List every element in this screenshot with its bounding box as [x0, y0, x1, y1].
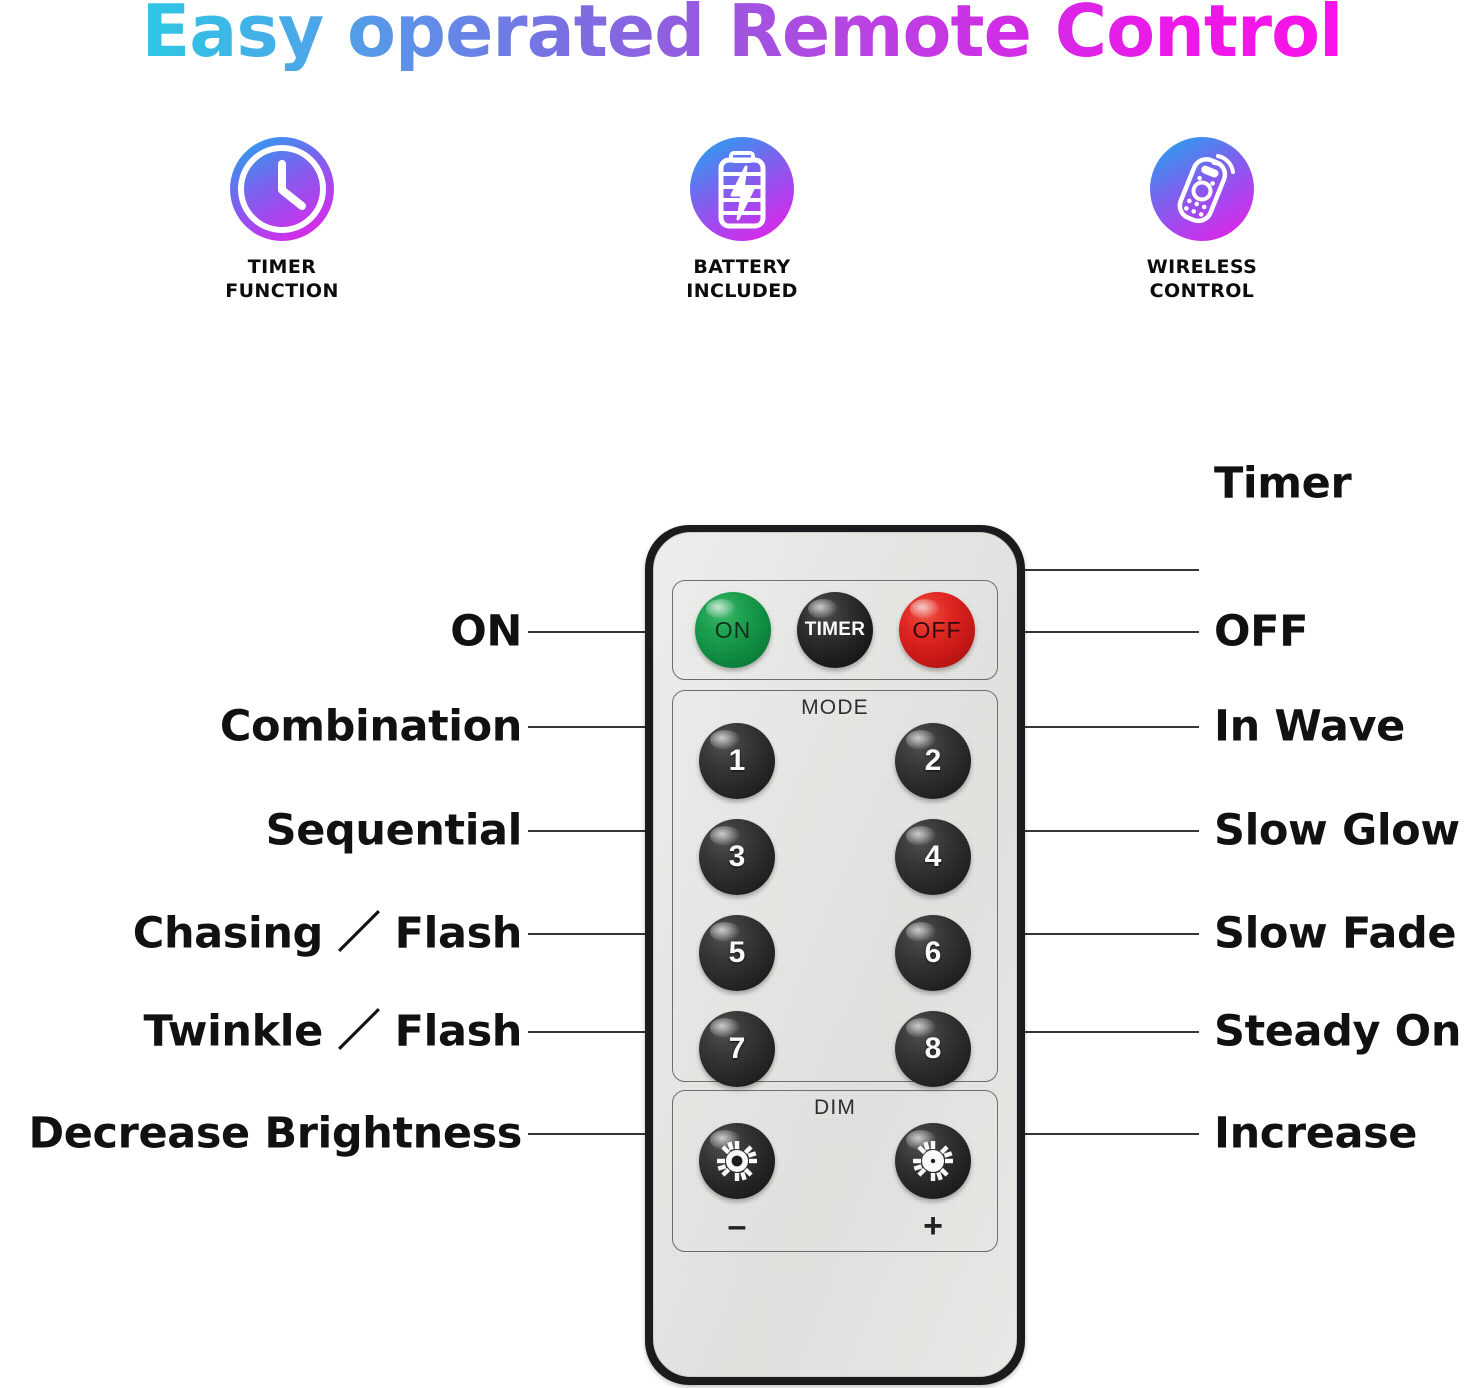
brightness-decrease-icon [713, 1137, 761, 1185]
remote-control: ON TIMER OFF MODE 1 2 3 4 5 6 7 8 DIM [645, 525, 1025, 1385]
feature-label: WIRELESS CONTROL [1147, 255, 1257, 304]
callout-combination: Combination [220, 706, 522, 749]
callout-decrease-brightness: Decrease Brightness [29, 1113, 523, 1156]
callout-in-wave: In Wave [1214, 706, 1405, 749]
mode-button-5[interactable]: 5 [699, 915, 775, 991]
callout-off: OFF [1214, 611, 1308, 654]
feature-label: TIMER FUNCTION [225, 255, 339, 304]
battery-icon [690, 137, 794, 241]
on-button[interactable]: ON [695, 592, 771, 668]
mode-button-2[interactable]: 2 [895, 723, 971, 799]
mode-panel: MODE 1 2 3 4 5 6 7 8 [672, 690, 998, 1082]
dim-label: DIM [673, 1096, 997, 1120]
feature-timer-function: TIMER FUNCTION [167, 137, 397, 304]
mode-label: MODE [673, 696, 997, 720]
callout-slow-glow: Slow Glow [1214, 810, 1460, 853]
clock-icon [230, 137, 334, 241]
page-title: Easy operated Remote Control [7, 0, 1476, 71]
callout-sequential: Sequential [266, 810, 522, 853]
mode-button-7[interactable]: 7 [699, 1011, 775, 1087]
power-panel: ON TIMER OFF [672, 580, 998, 680]
off-button[interactable]: OFF [899, 592, 975, 668]
timer-button[interactable]: TIMER [797, 592, 873, 668]
mode-button-4[interactable]: 4 [895, 819, 971, 895]
dim-decrease-button[interactable] [699, 1123, 775, 1199]
mode-button-3[interactable]: 3 [699, 819, 775, 895]
dim-increase-button[interactable] [895, 1123, 971, 1199]
callout-twinkle-flash: Twinkle ／ Flash [144, 1011, 522, 1054]
feature-wireless-control: WIRELESS CONTROL [1087, 137, 1317, 304]
callout-timer: Timer [1214, 463, 1351, 506]
remote-icon [1150, 137, 1254, 241]
dim-plus-symbol: + [895, 1209, 971, 1243]
dim-minus-symbol: – [699, 1209, 775, 1243]
remote-face: ON TIMER OFF MODE 1 2 3 4 5 6 7 8 DIM [653, 532, 1017, 1377]
callout-steady-on: Steady On [1214, 1011, 1461, 1054]
feature-battery-included: BATTERY INCLUDED [627, 137, 857, 304]
dim-panel: DIM [672, 1090, 998, 1252]
callout-chasing-flash: Chasing ／ Flash [133, 913, 522, 956]
callout-on: ON [450, 611, 522, 654]
feature-label: BATTERY INCLUDED [686, 255, 798, 304]
feature-badge-row: TIMER FUNCTION BATTERY INCLUDED [0, 137, 1484, 304]
mode-button-8[interactable]: 8 [895, 1011, 971, 1087]
mode-button-6[interactable]: 6 [895, 915, 971, 991]
callout-slow-fade: Slow Fade [1214, 913, 1456, 956]
mode-button-1[interactable]: 1 [699, 723, 775, 799]
callout-increase: Increase [1214, 1113, 1417, 1156]
brightness-increase-icon [909, 1137, 957, 1185]
